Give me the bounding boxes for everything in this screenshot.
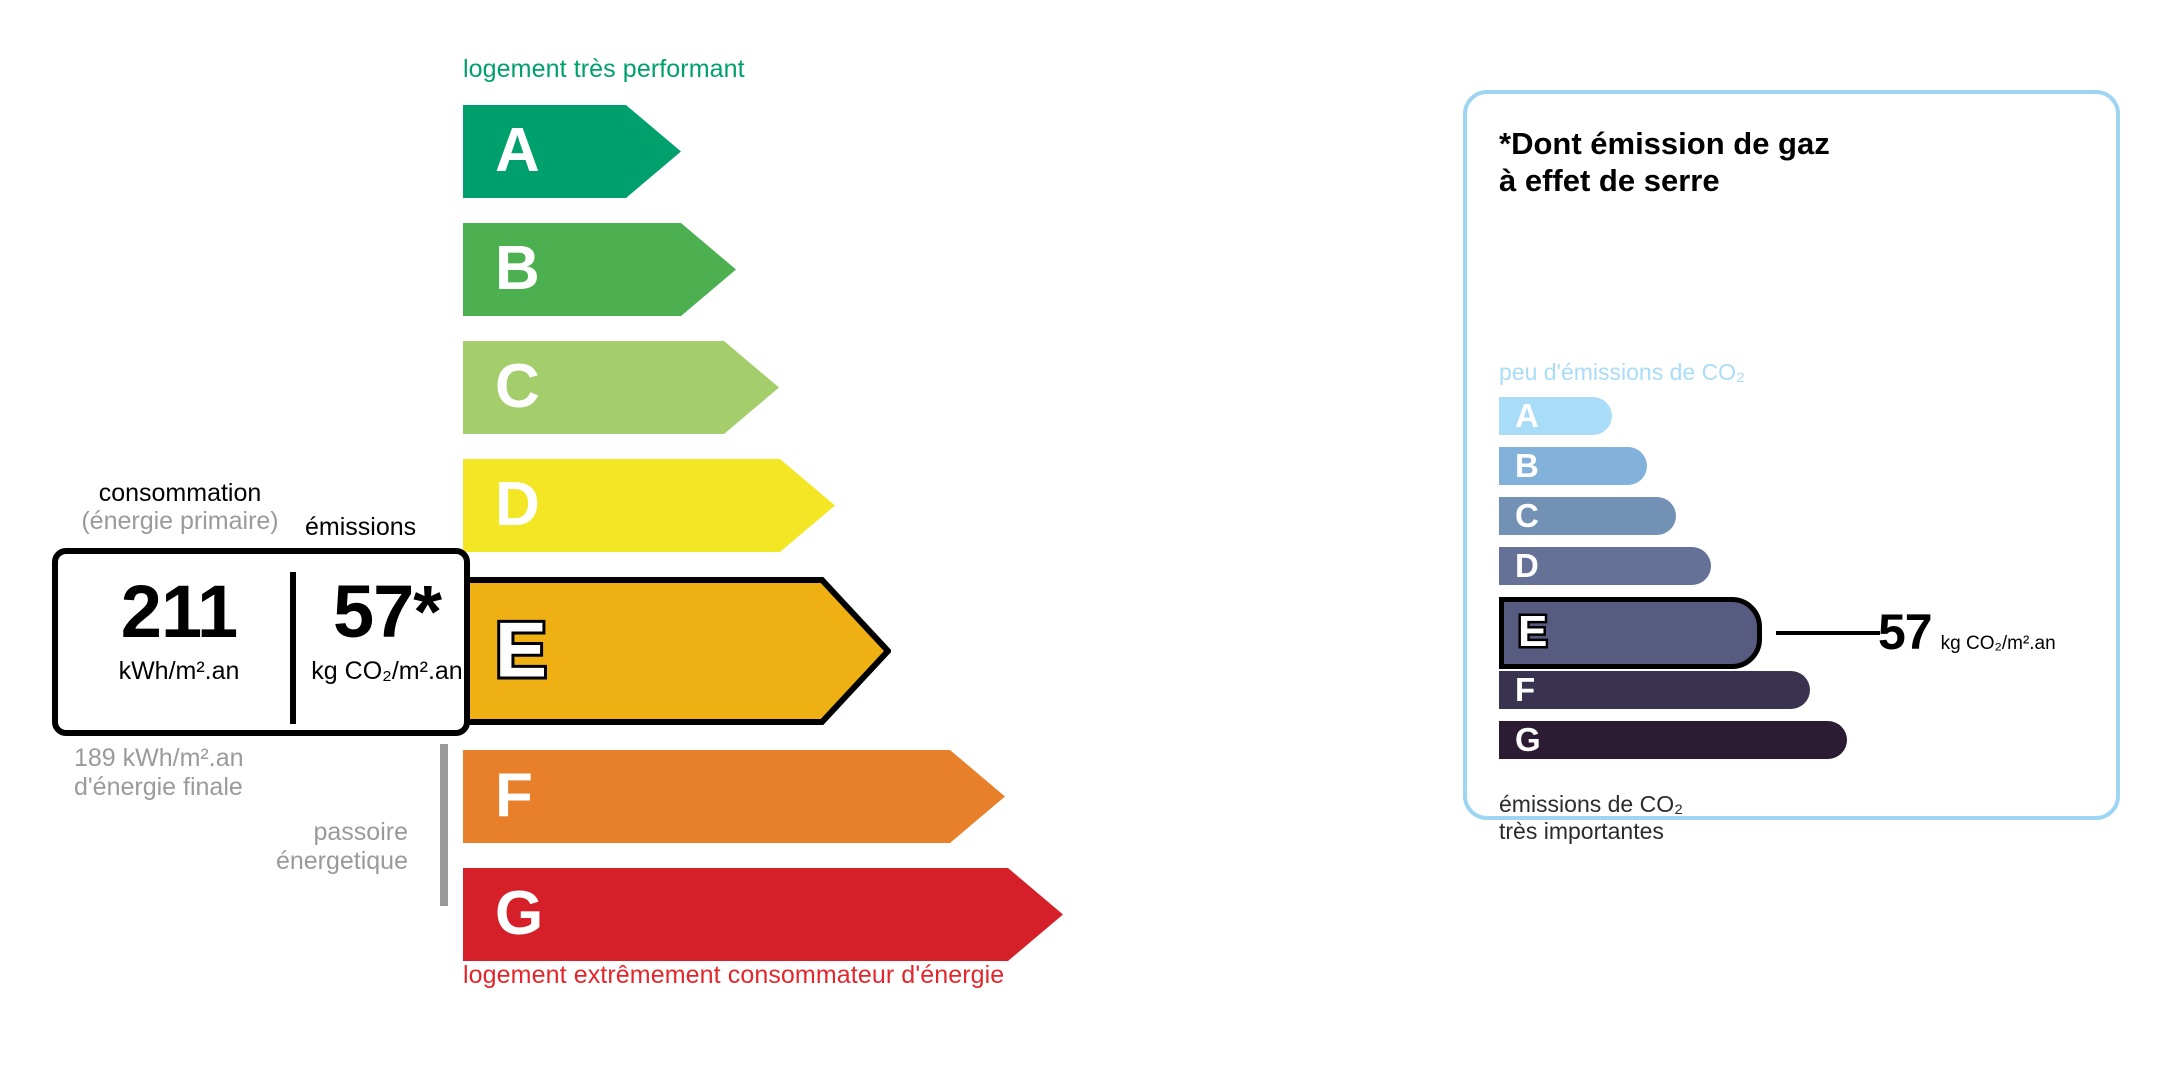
passoire-line1: passoire: [150, 818, 408, 847]
ges-bar-letter-a: A: [1515, 399, 1539, 432]
energy-band-letter-f: F: [495, 764, 533, 826]
emissions-cell: 57* kg CO₂/m².an: [304, 576, 470, 686]
final-energy-line1: 189 kWh/m².an: [74, 744, 244, 773]
ges-title-line2: à effet de serre: [1499, 163, 1830, 200]
ges-bottom-line2: très importantes: [1499, 818, 1683, 845]
ges-bar-g: G: [1499, 721, 1847, 759]
ges-panel: *Dont émission de gaz à effet de serre p…: [1463, 90, 2120, 820]
ges-bar-letter-e: E: [1518, 610, 1547, 654]
ges-callout-unit: kg CO₂/m².an: [1941, 633, 2056, 655]
passoire-line2: énergetique: [150, 847, 408, 876]
energy-band-b: B: [463, 223, 736, 316]
energy-band-c: C: [463, 341, 779, 434]
energy-band-letter-b: B: [495, 237, 540, 299]
ges-bar-d: D: [1499, 547, 1711, 585]
ges-title-line1: *Dont émission de gaz: [1499, 126, 1830, 163]
energy-band-letter-a: A: [495, 119, 540, 181]
ges-bar-a: A: [1499, 397, 1612, 435]
energy-band-e: E: [463, 577, 891, 725]
dpe-label: logement très performant ABCDEFG logemen…: [0, 0, 2169, 1079]
consumption-label: consommation (énergie primaire): [62, 479, 298, 535]
energy-band-arrow-g: [463, 868, 1063, 961]
consumption-label-line2: (énergie primaire): [62, 507, 298, 535]
energy-band-letter-g: G: [495, 882, 543, 944]
ges-bar-letter-f: F: [1515, 673, 1535, 706]
ges-title: *Dont émission de gaz à effet de serre: [1499, 126, 1830, 199]
ges-bar-letter-g: G: [1515, 723, 1541, 756]
ges-bar-letter-b: B: [1515, 449, 1539, 482]
energy-band-letter-e: E: [495, 610, 547, 688]
final-energy-line2: d'énergie finale: [74, 773, 244, 802]
consumption-cell: 211 kWh/m².an: [72, 576, 286, 686]
ges-bar-b: B: [1499, 447, 1647, 485]
ges-class-bars: ABCDEFG57kg CO₂/m².an: [1499, 397, 2099, 787]
consumption-unit: kWh/m².an: [72, 657, 286, 686]
consumption-label-line1: consommation: [62, 479, 298, 507]
ges-top-caption: peu d'émissions de CO₂: [1499, 359, 1745, 386]
ges-callout: 57kg CO₂/m².an: [1878, 607, 2056, 657]
passoire-bracket: [440, 744, 448, 906]
ges-callout-leader-line: [1776, 631, 1880, 635]
energy-band-g: G: [463, 868, 1063, 961]
energy-bottom-caption: logement extrêmement consommateur d'éner…: [463, 961, 1004, 990]
ges-bottom-caption: émissions de CO₂ très importantes: [1499, 791, 1683, 844]
ges-bar-letter-d: D: [1515, 549, 1539, 582]
energy-band-a: A: [463, 105, 681, 198]
value-box: 211 kWh/m².an 57* kg CO₂/m².an: [52, 548, 470, 736]
emissions-label: émissions: [305, 513, 416, 542]
ges-bar-letter-c: C: [1515, 499, 1539, 532]
ges-bottom-line1: émissions de CO₂: [1499, 791, 1683, 818]
passoire-label: passoire énergetique: [150, 818, 408, 875]
energy-band-letter-d: D: [495, 473, 540, 535]
energy-band-f: F: [463, 750, 1005, 843]
ges-bar-f: F: [1499, 671, 1810, 709]
energy-band-letter-c: C: [495, 355, 540, 417]
energy-performance-chart: logement très performant ABCDEFG logemen…: [0, 0, 1400, 1079]
energy-band-arrow-f: [463, 750, 1005, 843]
ges-callout-value: 57: [1878, 607, 1932, 657]
ges-bar-c: C: [1499, 497, 1676, 535]
final-energy-note: 189 kWh/m².an d'énergie finale: [74, 744, 244, 801]
energy-band-d: D: [463, 459, 835, 552]
value-box-divider: [290, 572, 296, 724]
energy-class-bands: ABCDEFG: [463, 105, 1363, 950]
energy-top-caption: logement très performant: [463, 55, 745, 84]
emissions-unit: kg CO₂/m².an: [304, 657, 470, 686]
emissions-value: 57*: [304, 576, 470, 649]
consumption-value: 211: [72, 576, 286, 649]
ges-bar-e: E: [1499, 597, 1762, 669]
